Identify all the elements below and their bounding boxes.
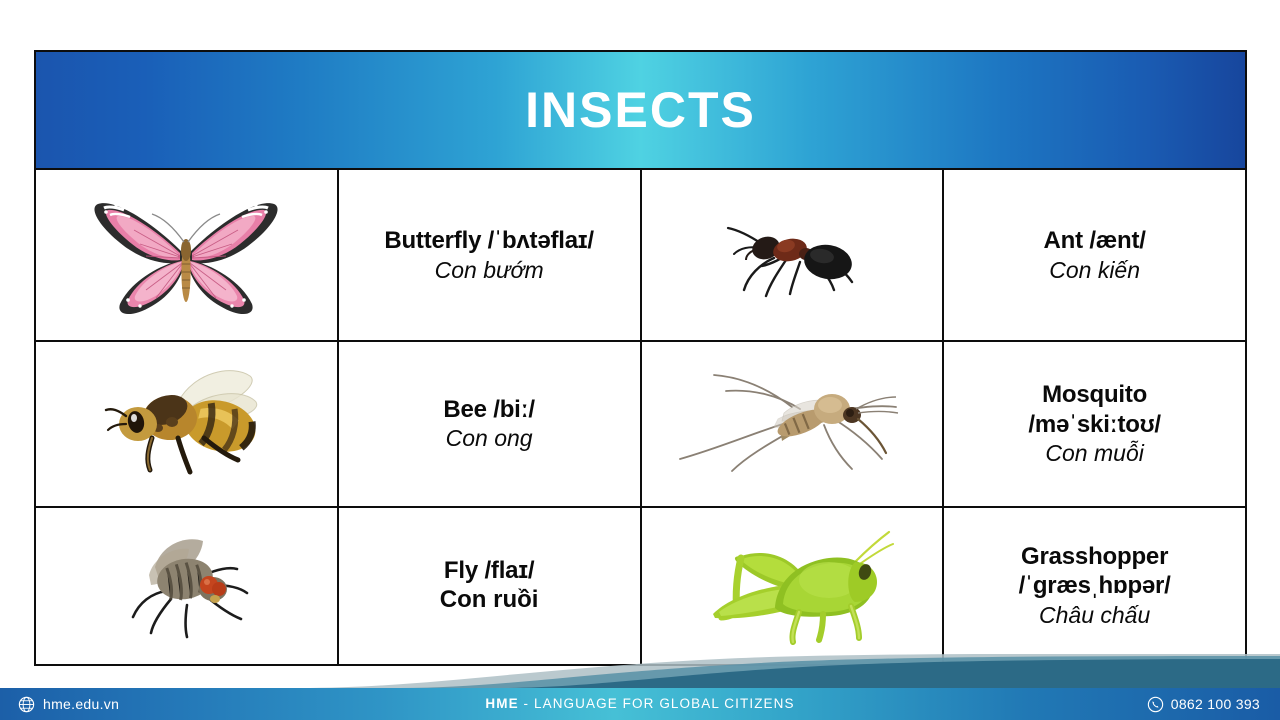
english-word: Bee /biː/ bbox=[339, 395, 640, 424]
vietnamese-word: Con kiến bbox=[944, 256, 1245, 285]
english-phonetic: /ˈgræsˌhɒpər/ bbox=[944, 571, 1245, 600]
english-phonetic: /məˈskiːtoʊ/ bbox=[944, 410, 1245, 439]
vietnamese-word: Con bướm bbox=[339, 256, 640, 285]
vietnamese-word: Châu chấu bbox=[944, 601, 1245, 630]
english-word: Butterfly /ˈbʌtəflaɪ/ bbox=[339, 226, 640, 255]
table-row: Bee /biː/ Con ong bbox=[35, 341, 1246, 506]
grasshopper-word-cell: Grasshopper /ˈgræsˌhɒpər/ Châu chấu bbox=[943, 507, 1246, 665]
grasshopper-image-cell bbox=[641, 507, 944, 665]
footer-tagline: HME - LANGUAGE FOR GLOBAL CITIZENS bbox=[330, 695, 950, 713]
mosquito-image-cell bbox=[641, 341, 944, 506]
mosquito-illustration bbox=[674, 367, 909, 482]
footer-wave-decoration bbox=[0, 654, 1280, 688]
table-title-row: INSECTS bbox=[35, 51, 1246, 169]
butterfly-illustration bbox=[79, 190, 294, 320]
bee-illustration bbox=[94, 362, 279, 487]
ant-word-cell: Ant /ænt/ Con kiến bbox=[943, 169, 1246, 341]
vietnamese-word: Con ruồi bbox=[339, 585, 640, 615]
english-word: Fly /flaɪ/ bbox=[339, 556, 640, 585]
insects-vocabulary-table: INSECTS bbox=[34, 50, 1247, 666]
footer-website[interactable]: hme.edu.vn bbox=[0, 696, 330, 713]
tagline-text: - LANGUAGE FOR GLOBAL CITIZENS bbox=[519, 696, 795, 711]
footer-phone[interactable]: 0862 100 393 bbox=[950, 696, 1280, 713]
english-word: Mosquito bbox=[944, 380, 1245, 409]
phone-text: 0862 100 393 bbox=[1171, 696, 1260, 712]
brand-name: HME bbox=[485, 696, 518, 711]
bee-word-cell: Bee /biː/ Con ong bbox=[338, 341, 641, 506]
english-word: Grasshopper bbox=[944, 542, 1245, 571]
globe-icon bbox=[18, 696, 35, 713]
fly-illustration bbox=[109, 527, 264, 645]
mosquito-word-cell: Mosquito /məˈskiːtoʊ/ Con muỗi bbox=[943, 341, 1246, 506]
vietnamese-word: Con muỗi bbox=[944, 439, 1245, 468]
vietnamese-word: Con ong bbox=[339, 424, 640, 453]
fly-image-cell bbox=[35, 507, 338, 665]
page-title: INSECTS bbox=[36, 85, 1245, 135]
ant-image-cell bbox=[641, 169, 944, 341]
grasshopper-illustration bbox=[679, 522, 904, 650]
fly-word-cell: Fly /flaɪ/ Con ruồi bbox=[338, 507, 641, 665]
butterfly-word-cell: Butterfly /ˈbʌtəflaɪ/ Con bướm bbox=[338, 169, 641, 341]
slide-canvas: INSECTS bbox=[0, 0, 1280, 720]
bee-image-cell bbox=[35, 341, 338, 506]
ant-illustration bbox=[704, 208, 879, 303]
phone-icon bbox=[1147, 696, 1164, 713]
website-text: hme.edu.vn bbox=[43, 696, 119, 712]
table-row: Fly /flaɪ/ Con ruồi bbox=[35, 507, 1246, 665]
english-word: Ant /ænt/ bbox=[944, 226, 1245, 255]
footer-bar: hme.edu.vn HME - LANGUAGE FOR GLOBAL CIT… bbox=[0, 688, 1280, 720]
table-row: Butterfly /ˈbʌtəflaɪ/ Con bướm bbox=[35, 169, 1246, 341]
butterfly-image-cell bbox=[35, 169, 338, 341]
slide-title-cell: INSECTS bbox=[35, 51, 1246, 169]
